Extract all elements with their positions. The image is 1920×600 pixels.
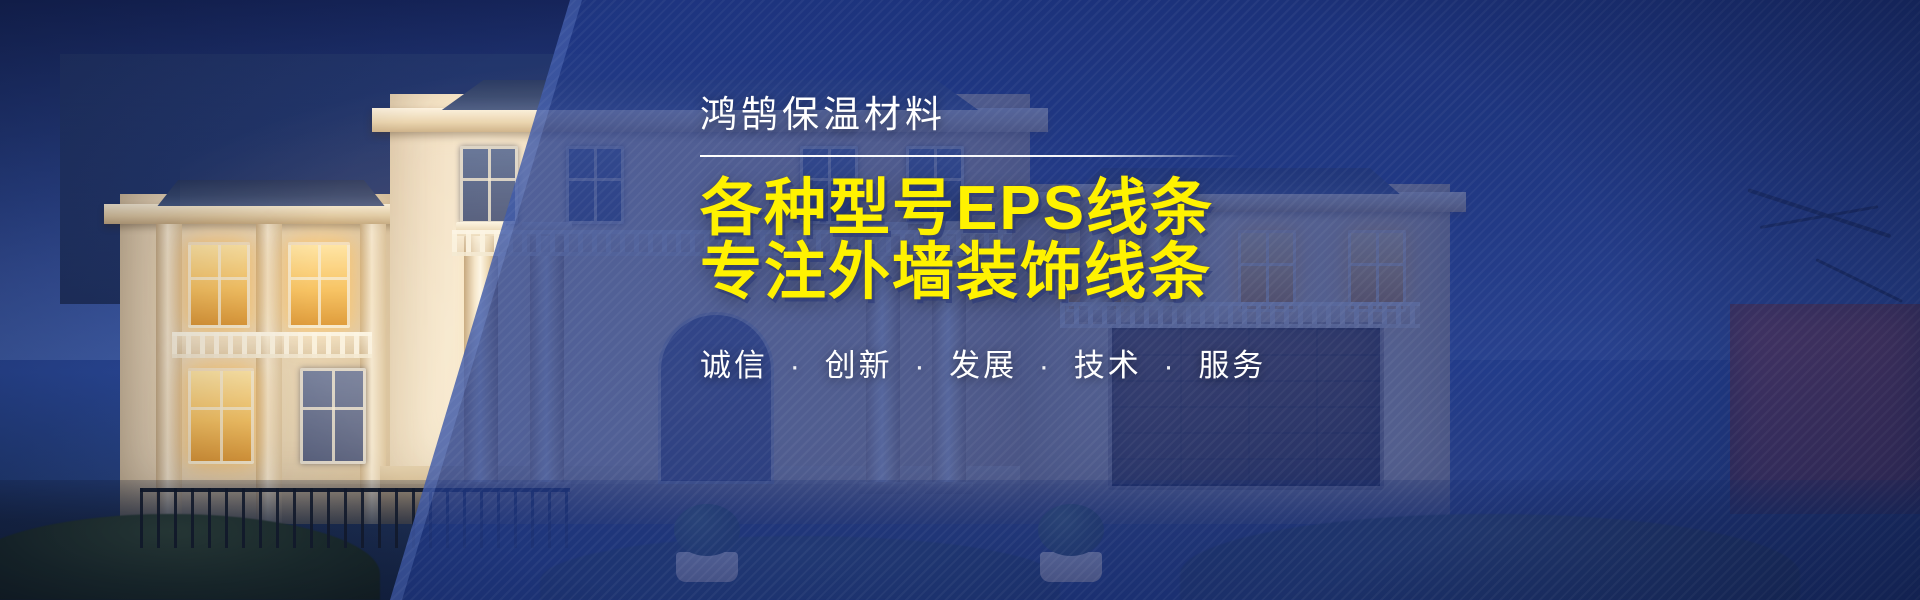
brand-name: 鸿鹄保温材料 [700, 96, 1540, 133]
window-lit [288, 242, 350, 328]
balustrade [172, 332, 372, 358]
tagline-separator: · [914, 348, 927, 383]
left-wing-roof [142, 180, 400, 206]
tagline-item: 服务 [1198, 348, 1266, 383]
tagline-separator: · [1163, 348, 1176, 383]
headline-line-1: 各种型号EPS线条 [700, 177, 1540, 241]
headline-line-2: 专注外墙装饰线条 [700, 241, 1540, 305]
window [300, 368, 366, 464]
pilaster [156, 224, 182, 524]
left-wing-cornice [104, 204, 436, 224]
pilaster [256, 224, 282, 524]
headline: 各种型号EPS线条 专注外墙装饰线条 [700, 177, 1540, 306]
tagline-item: 创新 [825, 348, 893, 383]
promo-banner: 鸿鹄保温材料 各种型号EPS线条 专注外墙装饰线条 诚信 · 创新 · 发展 ·… [0, 0, 1920, 600]
window-lit [188, 242, 250, 328]
window-lit [188, 368, 254, 464]
tagline: 诚信 · 创新 · 发展 · 技术 · 服务 [700, 340, 1540, 385]
divider-rule [700, 155, 1240, 157]
tagline-separator: · [790, 348, 803, 383]
tagline-item: 技术 [1074, 348, 1142, 383]
tagline-item: 发展 [949, 348, 1017, 383]
tagline-separator: · [1039, 348, 1052, 383]
banner-copy: 鸿鹄保温材料 各种型号EPS线条 专注外墙装饰线条 诚信 · 创新 · 发展 ·… [700, 96, 1540, 385]
tagline-item: 诚信 [700, 348, 768, 383]
